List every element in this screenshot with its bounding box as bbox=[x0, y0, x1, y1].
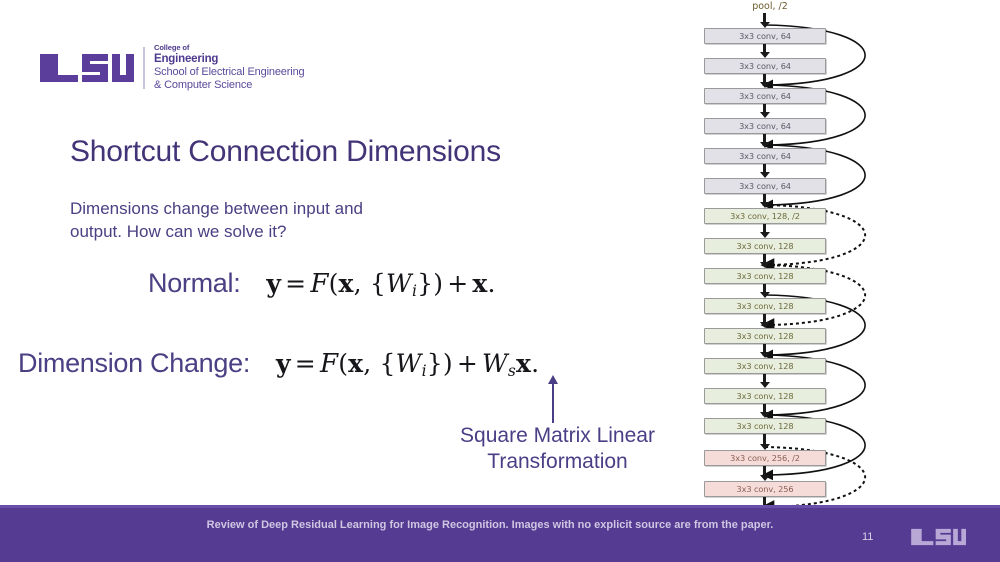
equation-dimension-change-label: Dimension Change: bbox=[18, 348, 250, 379]
flow-arrow bbox=[763, 466, 766, 476]
flow-arrow bbox=[763, 254, 766, 263]
flow-arrow bbox=[763, 164, 766, 173]
conv-block: 3x3 conv, 64 bbox=[704, 148, 826, 164]
annotation-line-2: Transformation bbox=[430, 449, 685, 475]
brand-divider bbox=[143, 47, 145, 89]
page-number: 11 bbox=[862, 531, 873, 543]
flow-arrow bbox=[763, 224, 766, 233]
conv-block: 3x3 conv, 64 bbox=[704, 28, 826, 44]
college-of-label: College of bbox=[154, 44, 305, 53]
conv-block: 3x3 conv, 64 bbox=[704, 178, 826, 194]
conv-block: 3x3 conv, 128 bbox=[704, 358, 826, 374]
flow-arrow bbox=[763, 13, 766, 23]
footer-caption-line-2: are from the paper. bbox=[674, 519, 773, 531]
conv-block: 3x3 conv, 128 bbox=[704, 328, 826, 344]
conv-block: 3x3 conv, 128 bbox=[704, 238, 826, 254]
slide-footer: Review of Deep Residual Learning for Ima… bbox=[0, 505, 1000, 562]
body-line-2: output. How can we solve it? bbox=[70, 221, 363, 244]
flow-arrow bbox=[763, 314, 766, 323]
flow-arrow bbox=[763, 104, 766, 113]
conv-block: 3x3 conv, 128 bbox=[704, 388, 826, 404]
equation-normal-math: y=F(x, {Wi})+x. bbox=[266, 269, 495, 300]
conv-block: 3x3 conv, 128 bbox=[704, 268, 826, 284]
flow-arrow bbox=[763, 44, 766, 53]
equation-dimension-change-row: Dimension Change: y=F(x, {Wi})+Wsx. bbox=[18, 348, 539, 380]
flow-arrow bbox=[763, 134, 766, 143]
brand-unit-names: College of Engineering School of Electri… bbox=[154, 44, 305, 92]
equation-normal-row: Normal: y=F(x, {Wi})+x. bbox=[148, 268, 496, 300]
conv-block: 3x3 conv, 64 bbox=[704, 88, 826, 104]
flow-arrow bbox=[763, 284, 766, 293]
conv-block: 3x3 conv, 256 bbox=[704, 481, 826, 497]
resnet-architecture-diagram: pool, /2 3x3 conv, 643x3 conv, 643x3 con… bbox=[690, 0, 1000, 505]
annotation-line-1: Square Matrix Linear bbox=[430, 423, 685, 449]
flow-arrow bbox=[763, 404, 766, 413]
footer-caption: Review of Deep Residual Learning for Ima… bbox=[190, 519, 790, 533]
conv-block: 3x3 conv, 128, /2 bbox=[704, 208, 826, 224]
flow-arrow bbox=[763, 74, 766, 83]
body-line-1: Dimensions change between input and bbox=[70, 198, 363, 221]
conv-block: 3x3 conv, 64 bbox=[704, 58, 826, 74]
conv-block: 3x3 conv, 256, /2 bbox=[704, 450, 826, 466]
lsu-wordmark-logo bbox=[38, 51, 134, 85]
footer-lsu-logo bbox=[910, 527, 966, 547]
engineering-label: Engineering bbox=[154, 53, 305, 66]
annotation-text: Square Matrix Linear Transformation bbox=[430, 423, 685, 476]
flow-arrow bbox=[763, 374, 766, 383]
page-title: Shortcut Connection Dimensions bbox=[70, 135, 501, 169]
conv-block: 3x3 conv, 128 bbox=[704, 418, 826, 434]
slide-body-text: Dimensions change between input and outp… bbox=[70, 198, 363, 243]
conv-block: 3x3 conv, 64 bbox=[704, 118, 826, 134]
flow-arrow bbox=[763, 434, 766, 445]
school-line-2: & Computer Science bbox=[154, 79, 305, 92]
equation-normal-label: Normal: bbox=[148, 268, 240, 299]
school-line-1: School of Electrical Engineering bbox=[154, 66, 305, 79]
conv-block: 3x3 conv, 128 bbox=[704, 298, 826, 314]
equation-dimension-change-math: y=F(x, {Wi})+Wsx. bbox=[276, 349, 539, 380]
flow-arrow bbox=[763, 344, 766, 353]
lsu-brand-header: College of Engineering School of Electri… bbox=[38, 44, 305, 92]
footer-caption-line-1: Review of Deep Residual Learning for Ima… bbox=[207, 519, 672, 531]
up-arrow-icon bbox=[552, 383, 554, 423]
footer-accent-line bbox=[0, 505, 1000, 508]
flow-arrow bbox=[763, 194, 766, 203]
